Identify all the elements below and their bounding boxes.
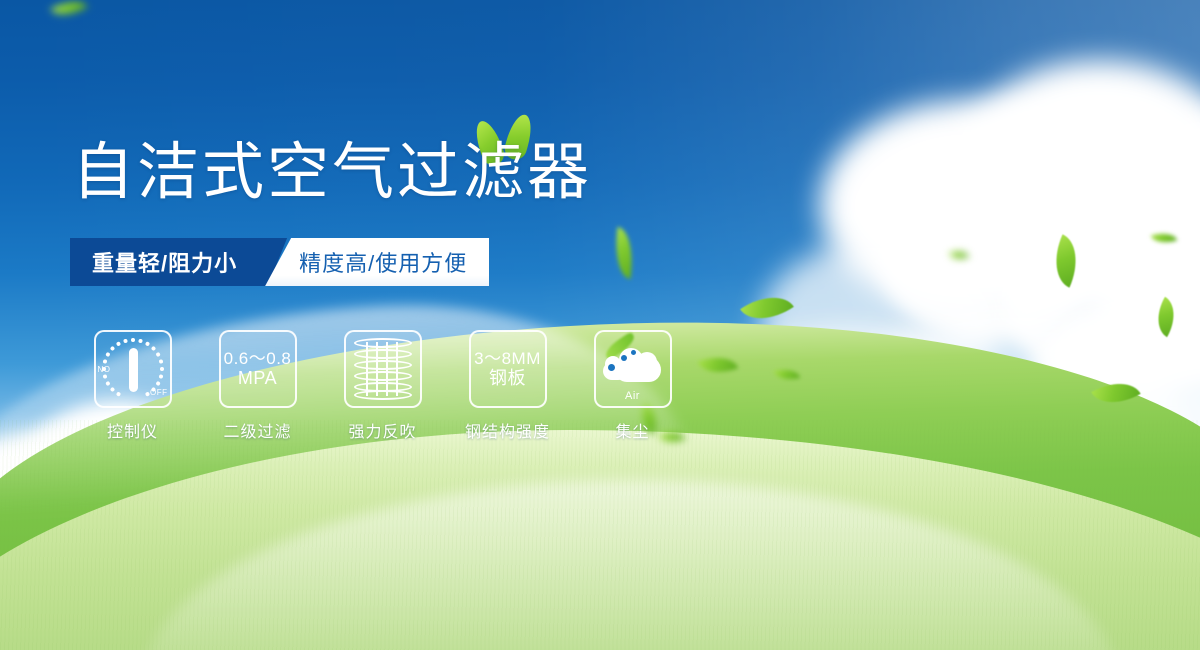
feature-label: 二级过滤 <box>223 418 291 442</box>
dial-off-label: OFF <box>150 388 168 397</box>
cloud-air-icon: Air <box>601 340 665 398</box>
dial-gauge-icon: NO OFF <box>98 334 168 404</box>
page-title: 自洁式空气过滤器 <box>72 142 592 204</box>
grass-field <box>0 420 1200 650</box>
feature-icon-box: NO OFF <box>94 330 172 408</box>
steel-thickness: 3～8MM <box>474 349 541 368</box>
feature-list: NO OFF 控制仪 0.6～0.8 MPA 二级过滤 <box>70 330 695 442</box>
pressure-value: 0.6～0.8 <box>224 349 292 368</box>
steel-plate-text-icon: 3～8MM 钢板 <box>474 349 541 389</box>
subtitle-right-panel: 精度高/使用方便 <box>265 238 489 286</box>
pressure-text-icon: 0.6～0.8 MPA <box>224 349 292 389</box>
promo-banner: 自洁式空气过滤器 重量轻/阻力小 精度高/使用方便 <box>0 0 1200 650</box>
air-label: Air <box>601 390 665 402</box>
grass-texture <box>0 420 1200 650</box>
feature-icon-box: 0.6～0.8 MPA <box>219 330 297 408</box>
feature-label: 集尘 <box>615 418 649 442</box>
subtitle-right-text: 精度高/使用方便 <box>299 246 467 278</box>
coil-filter-icon <box>354 338 412 400</box>
dial-pointer <box>129 348 138 392</box>
feature-powerful-backblow[interactable]: 强力反吹 <box>320 330 445 442</box>
feature-label: 控制仪 <box>107 418 158 442</box>
feature-label: 钢结构强度 <box>465 418 550 442</box>
pressure-unit: MPA <box>224 368 292 389</box>
feature-steel-structure-strength[interactable]: 3～8MM 钢板 钢结构强度 <box>445 330 570 442</box>
feature-icon-box: 3～8MM 钢板 <box>469 330 547 408</box>
feature-icon-box: Air <box>594 330 672 408</box>
subtitle-bar: 重量轻/阻力小 精度高/使用方便 <box>70 238 489 286</box>
feature-dust-collection[interactable]: Air 集尘 <box>570 330 695 442</box>
steel-material: 钢板 <box>474 368 541 389</box>
subtitle-left-panel: 重量轻/阻力小 <box>70 238 267 286</box>
subtitle-left-text: 重量轻/阻力小 <box>92 246 237 278</box>
feature-control-instrument[interactable]: NO OFF 控制仪 <box>70 330 195 442</box>
feature-two-stage-filtration[interactable]: 0.6～0.8 MPA 二级过滤 <box>195 330 320 442</box>
feature-icon-box <box>344 330 422 408</box>
feature-label: 强力反吹 <box>348 418 416 442</box>
dial-on-label: NO <box>98 365 111 374</box>
